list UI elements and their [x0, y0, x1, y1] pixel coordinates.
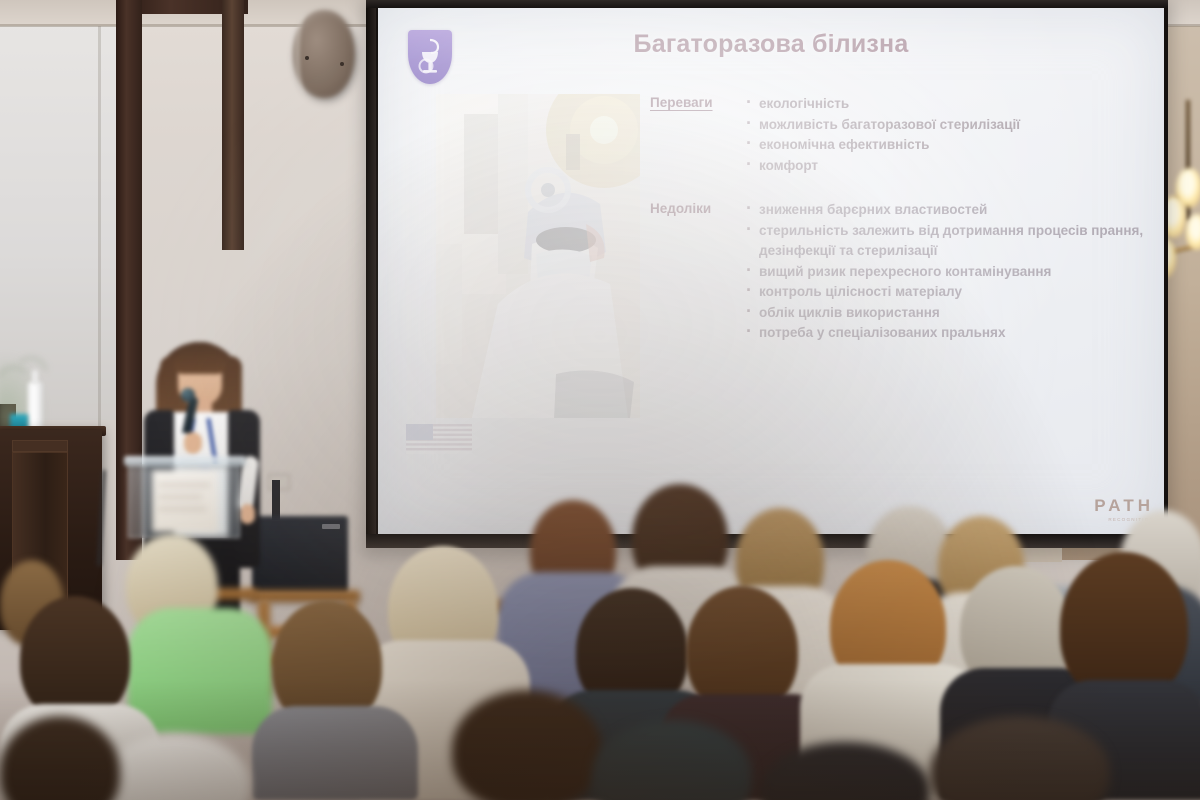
- audience-body-green-sweater: [128, 608, 272, 734]
- speaker-screw: [305, 56, 309, 60]
- list-item: облік циклів використання: [744, 303, 1150, 324]
- screen-left-post: [366, 8, 376, 540]
- av-box-label: [322, 524, 340, 529]
- list-item: потреба у спеціалізованих пральнях: [744, 323, 1150, 344]
- sanitizer-pump: [32, 370, 38, 384]
- presenter-hand-right: [240, 504, 255, 524]
- us-flag-icon: [406, 424, 472, 454]
- paper-line: [158, 508, 206, 510]
- sanitizer-bottle: [28, 382, 43, 432]
- path-logo-text: PATH: [1094, 496, 1154, 516]
- lectern-papers: [152, 470, 218, 532]
- list-item: стерильність залежить від дотримання про…: [744, 221, 1150, 262]
- list-item: вищий ризик перехресного контамінування: [744, 262, 1150, 283]
- audience-head: [452, 690, 602, 800]
- cons-section: Недоліки зниження барєрних властивостей …: [650, 200, 1150, 344]
- list-item: контроль цілісності матеріалу: [744, 282, 1150, 303]
- section-gap: [650, 176, 1150, 200]
- microphone-head: [181, 388, 195, 402]
- pros-list: екологічність можливість багаторазової с…: [744, 94, 1150, 176]
- lectern-top-surface: [124, 456, 246, 466]
- screen-top-rail: [366, 0, 1168, 8]
- presentation-slide[interactable]: Багаторазова білизна: [378, 8, 1164, 536]
- cons-list: зниження барєрних властивостей стерильні…: [744, 200, 1150, 344]
- list-item: можливість багаторазової стерилізації: [744, 115, 1150, 136]
- slide-title: Багаторазова білизна: [378, 30, 1164, 59]
- presenter-fringe: [174, 342, 226, 374]
- list-item: комфорт: [744, 156, 1150, 177]
- speaker-screw: [340, 62, 344, 66]
- conference-hall-scene: Багаторазова білизна: [0, 0, 1200, 800]
- cabinet-drawer: [12, 440, 68, 452]
- slide-body: Переваги екологічність можливість багато…: [650, 94, 1150, 344]
- slide-photo-surgeon: [436, 94, 640, 418]
- wall-speaker-rim: [296, 14, 316, 94]
- presenter-hand-left: [184, 432, 202, 454]
- paper-line: [158, 496, 202, 498]
- list-item: екологічність: [744, 94, 1150, 115]
- wall-seam: [98, 0, 101, 430]
- cons-label: Недоліки: [650, 200, 744, 344]
- list-item: зниження барєрних властивостей: [744, 200, 1150, 221]
- chandelier-bulb-icon: [1186, 214, 1200, 250]
- pros-section: Переваги екологічність можливість багато…: [650, 94, 1150, 176]
- audience-body: [252, 706, 418, 800]
- paper-line: [158, 484, 210, 486]
- pros-label: Переваги: [650, 94, 744, 176]
- list-item: економічна ефективність: [744, 135, 1150, 156]
- wood-beam-secondary: [222, 0, 244, 250]
